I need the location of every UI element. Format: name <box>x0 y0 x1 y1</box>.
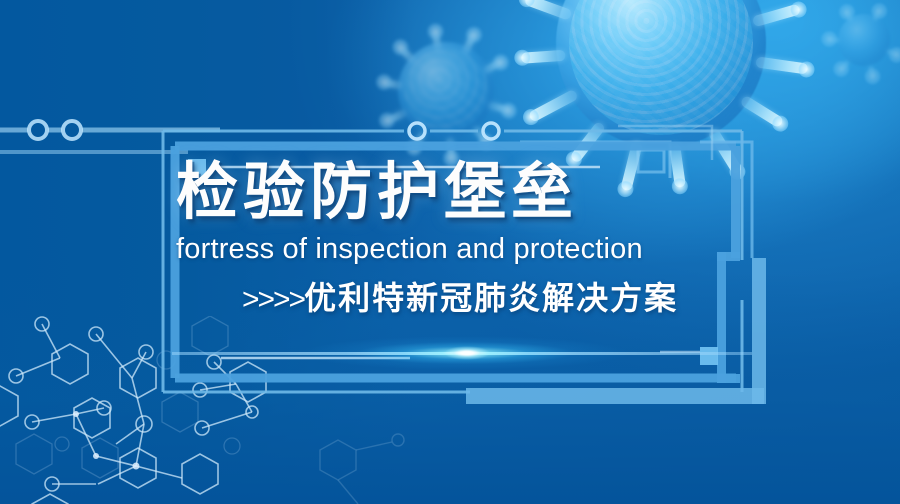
poster-canvas: 检验防护堡垒 fortress of inspection and protec… <box>0 0 900 504</box>
poster-title-cn: 检验防护堡垒 <box>176 158 736 228</box>
chevron-right-icon: >>>> <box>242 283 304 316</box>
poster-text-block: 检验防护堡垒 fortress of inspection and protec… <box>176 158 736 320</box>
glow-line-core <box>444 343 490 363</box>
poster-subtitle-cn: 优利特新冠肺炎解决方案 <box>304 280 678 316</box>
poster-subtitle: >>>>优利特新冠肺炎解决方案 <box>242 278 736 320</box>
poster-title-en: fortress of inspection and protection <box>176 232 736 266</box>
